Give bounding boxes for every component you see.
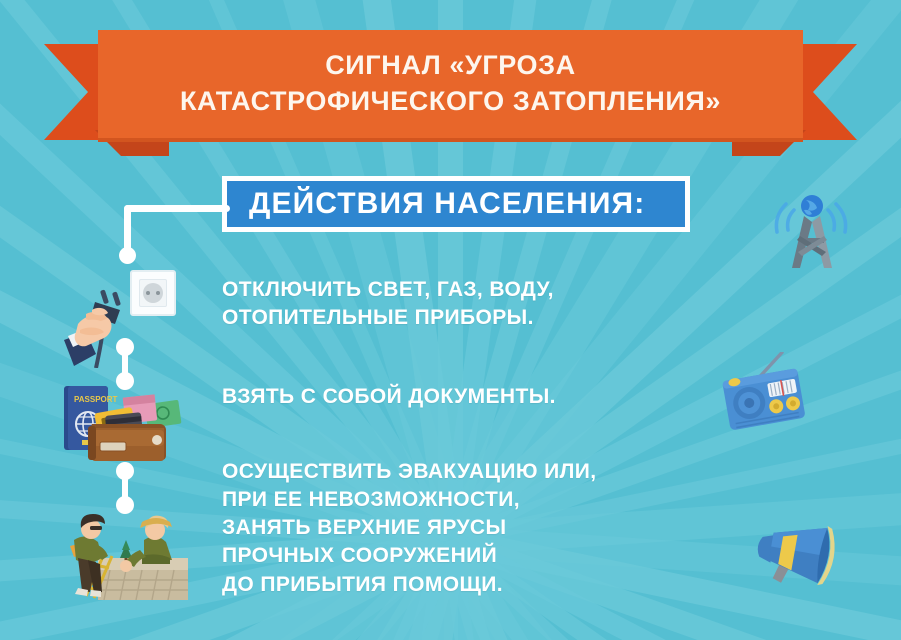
heading-connector: [110, 205, 230, 267]
broadcast-tower-icon: [766, 172, 858, 272]
passport-wallet-icon: PASSPORT: [62, 380, 184, 462]
roof-rescue-icon: [58, 500, 188, 600]
hand-plug-icon: [62, 278, 138, 368]
section-heading-label: ДЕЙСТВИЯ НАСЕЛЕНИЯ:: [249, 187, 645, 221]
passport-label: PASSPORT: [74, 395, 118, 404]
connector-horizontal: [124, 205, 230, 212]
banner-title-line2: КАТАСТРОФИЧЕСКОГО ЗАТОПЛЕНИЯ»: [180, 84, 721, 120]
connector-vertical: [124, 205, 131, 251]
connector-dot: [119, 247, 136, 264]
action-text-evacuate: ОСУЩЕСТВИТЬ ЭВАКУАЦИЮ ИЛИ, ПРИ ЕЕ НЕВОЗМ…: [222, 458, 596, 599]
socket-receptacle: [143, 283, 163, 303]
socket-faceplate: [139, 279, 167, 307]
megaphone-icon: [750, 518, 854, 594]
banner-title-line1: СИГНАЛ «УГРОЗА: [325, 48, 576, 84]
action-text-power-off: ОТКЛЮЧИТЬ СВЕТ, ГАЗ, ВОДУ, ОТОПИТЕЛЬНЫЕ …: [222, 276, 554, 332]
banner-title: СИГНАЛ «УГРОЗА КАТАСТРОФИЧЕСКОГО ЗАТОПЛЕ…: [98, 30, 803, 138]
portable-radio-icon: [718, 352, 814, 440]
section-heading-box: ДЕЙСТВИЯ НАСЕЛЕНИЯ:: [222, 176, 690, 232]
title-ribbon: СИГНАЛ «УГРОЗА КАТАСТРОФИЧЕСКОГО ЗАТОПЛЕ…: [0, 22, 901, 152]
action-text-take-documents: ВЗЯТЬ С СОБОЙ ДОКУМЕНТЫ.: [222, 383, 556, 411]
